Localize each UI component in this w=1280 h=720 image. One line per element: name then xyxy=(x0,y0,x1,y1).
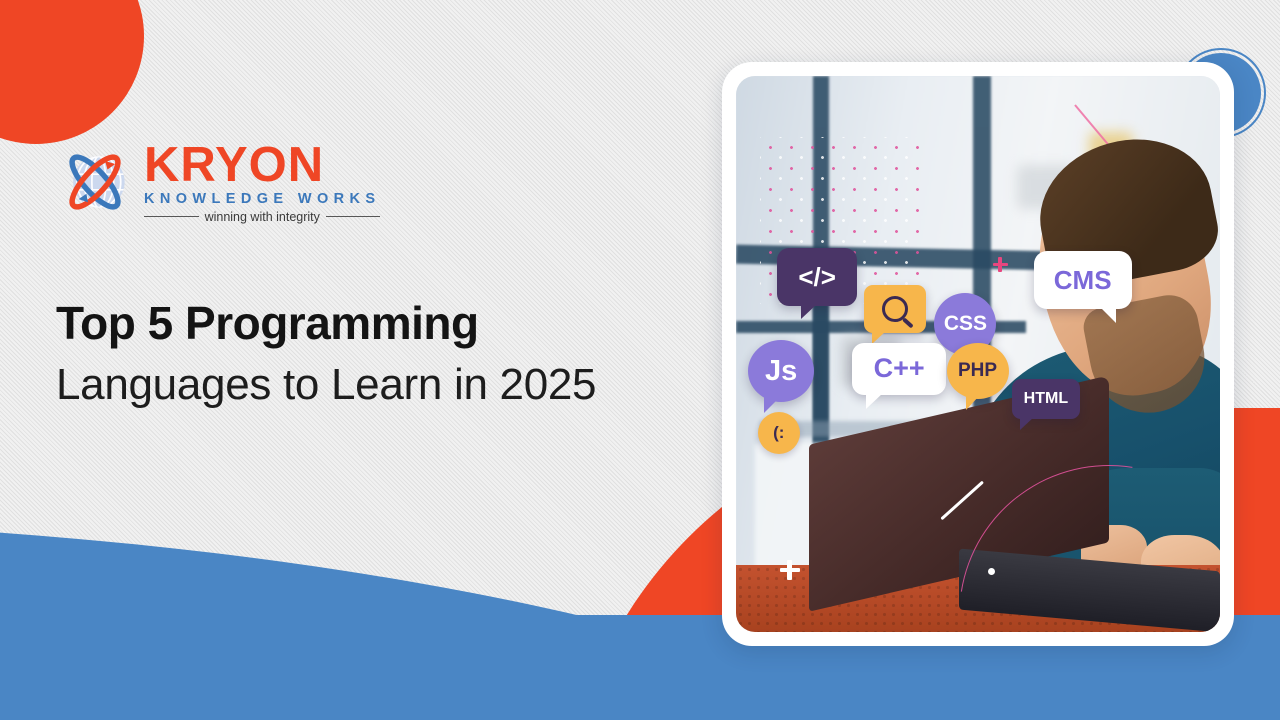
badge-label-js: Js xyxy=(765,355,797,388)
tagline-rule-left xyxy=(144,216,199,217)
brand-logo-text: KRYON KNOWLEDGE WORKS winning with integ… xyxy=(144,140,380,224)
html-badge-icon[interactable]: HTML xyxy=(1012,379,1080,419)
headline-line-2: Languages to Learn in 2025 xyxy=(56,358,696,412)
decor-plus-pink-icon xyxy=(993,257,1008,272)
slide-canvas: KRYON KNOWLEDGE WORKS winning with integ… xyxy=(0,0,1280,720)
badge-label-code: </> xyxy=(798,262,836,293)
magnifier-icon[interactable] xyxy=(864,285,926,333)
badge-label-html: HTML xyxy=(1024,390,1068,408)
brand-subtitle: KNOWLEDGE WORKS xyxy=(144,191,380,207)
badge-label-php: PHP xyxy=(958,360,997,382)
decor-orange-circle-top-left xyxy=(0,0,144,144)
photo-card-image: </> CSS CMS Js C++ xyxy=(736,76,1220,632)
badge-label-cms: CMS xyxy=(1054,265,1112,296)
badge-tail xyxy=(1100,307,1116,323)
brand-tagline-row: winning with integrity xyxy=(144,210,380,224)
left-content-column: KRYON KNOWLEDGE WORKS winning with integ… xyxy=(56,140,696,411)
badge-tail xyxy=(966,395,980,410)
brand-name: KRYON xyxy=(144,142,380,189)
cpp-badge-icon[interactable]: C++ xyxy=(852,343,946,395)
decor-plus-white-icon xyxy=(780,560,800,580)
js-badge-icon[interactable]: Js xyxy=(748,340,814,402)
smiley-emoticon-icon[interactable]: (: xyxy=(758,412,800,454)
headline-line-1: Top 5 Programming xyxy=(56,296,696,350)
page-title: Top 5 Programming Languages to Learn in … xyxy=(56,296,696,412)
badge-label-smiley: (: xyxy=(773,423,784,443)
php-badge-icon[interactable]: PHP xyxy=(947,343,1009,399)
badge-label-cpp: C++ xyxy=(874,353,925,384)
badge-tail xyxy=(1020,417,1034,430)
badge-tail xyxy=(801,304,817,319)
brand-logo[interactable]: KRYON KNOWLEDGE WORKS winning with integ… xyxy=(56,140,696,224)
badge-label-css: CSS xyxy=(944,312,987,336)
badge-tail xyxy=(872,331,886,344)
orbit-globe-icon xyxy=(56,143,134,221)
cms-badge-icon[interactable]: CMS xyxy=(1034,251,1132,309)
badge-tail xyxy=(866,393,883,409)
photo-card: </> CSS CMS Js C++ xyxy=(722,62,1234,646)
code-tag-icon[interactable]: </> xyxy=(777,248,857,306)
tagline-rule-right xyxy=(326,216,381,217)
badge-tail xyxy=(764,397,780,413)
magnifier-glyph xyxy=(882,296,908,322)
brand-tagline: winning with integrity xyxy=(205,210,320,224)
